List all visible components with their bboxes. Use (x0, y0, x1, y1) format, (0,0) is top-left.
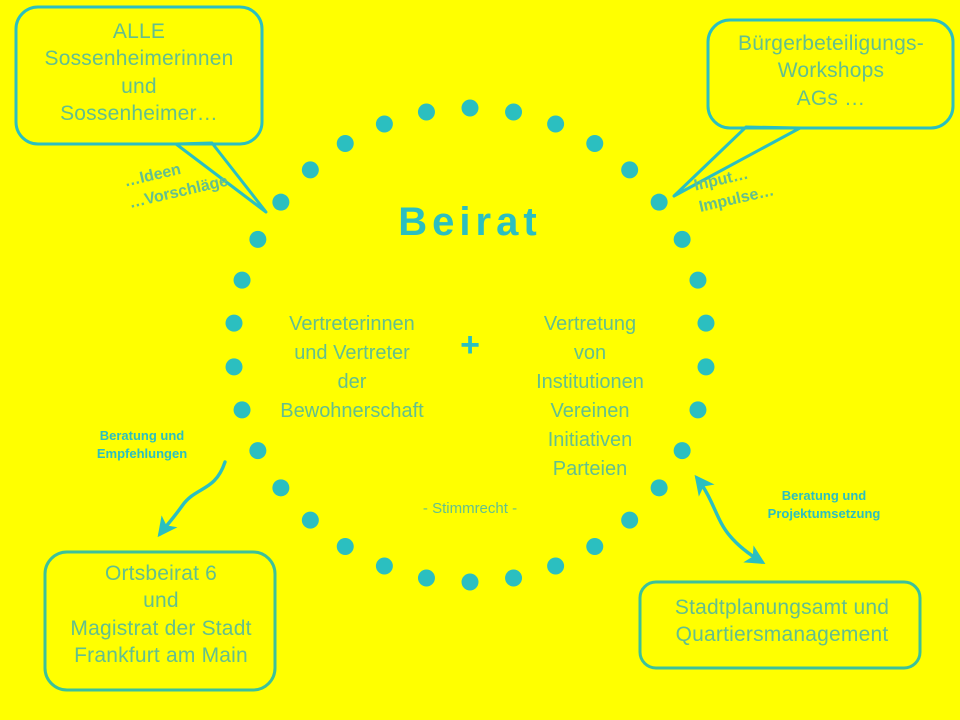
ring-dot (462, 574, 479, 591)
box-bottom-right-text: Stadtplanungsamt und Quartiersmanagement (646, 594, 918, 649)
ring-dot (674, 231, 691, 248)
speech-bubble-top-left-text: ALLE Sossenheimerinnen und Sossenheimer… (22, 18, 256, 127)
ring-dot (621, 512, 638, 529)
hub-column-right: Vertretung von Institutionen Vereinen In… (500, 310, 680, 484)
ring-dot (689, 272, 706, 289)
label-input-impulse: Input… Impulse… (692, 159, 776, 218)
ring-dot (586, 538, 603, 555)
ring-dot (272, 479, 289, 496)
ring-dot (249, 442, 266, 459)
label-beratung-projektumsetzung: Beratung und Projektumsetzung (746, 487, 902, 522)
ring-dot (376, 116, 393, 133)
ring-dot (697, 358, 714, 375)
hub-column-left: Vertreterinnen und Vertreter der Bewohne… (262, 310, 442, 426)
ring-dot (249, 231, 266, 248)
ring-dot (337, 135, 354, 152)
ring-dot (234, 272, 251, 289)
ring-dot (302, 512, 319, 529)
ring-dot (226, 315, 243, 332)
ring-dot (689, 401, 706, 418)
ring-dot (234, 401, 251, 418)
ring-dot (586, 135, 603, 152)
ring-dot (505, 104, 522, 121)
ring-dot (697, 315, 714, 332)
ring-dot (272, 194, 289, 211)
ring-dot (547, 558, 564, 575)
ring-dot (337, 538, 354, 555)
ring-dot (621, 161, 638, 178)
ring-dot (505, 569, 522, 586)
ring-dot (376, 558, 393, 575)
ring-dot (462, 100, 479, 117)
label-ideen-vorschlaege: …Ideen …Vorschläge (122, 149, 230, 214)
hub-title: Beirat (330, 200, 610, 245)
curved-arrow-left (160, 462, 225, 534)
speech-bubble-top-right-text: Bürgerbeteiligungs- Workshops AGs … (714, 30, 948, 112)
diagram-canvas: Beirat Vertreterinnen und Vertreter der … (0, 0, 960, 720)
plus-icon: + (448, 328, 492, 362)
box-bottom-left-text: Ortsbeirat 6 und Magistrat der Stadt Fra… (50, 560, 272, 669)
hub-voting-right-note: - Stimmrecht - (360, 500, 580, 517)
label-beratung-empfehlungen: Beratung und Empfehlungen (78, 427, 206, 462)
ring-dot (302, 161, 319, 178)
ring-dot (418, 104, 435, 121)
ring-dot (651, 194, 668, 211)
ring-dot (547, 116, 564, 133)
ring-dot (418, 569, 435, 586)
ring-dot (226, 358, 243, 375)
